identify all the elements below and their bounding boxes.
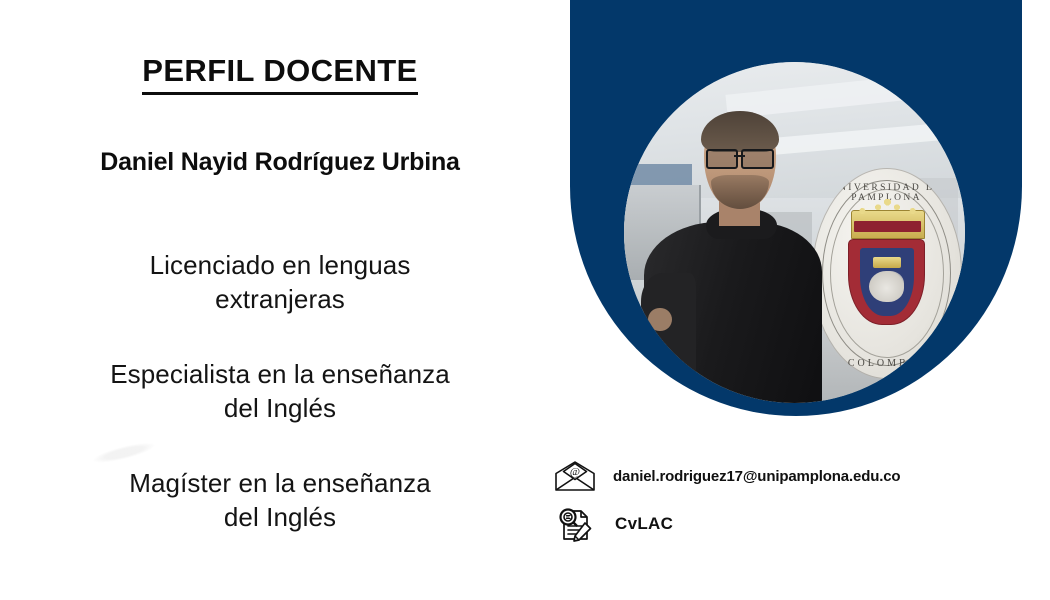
svg-text:@: @ [570,466,580,478]
seal-crown-icon [851,210,925,239]
photo-scene: UNIVERSIDAD DE PAMPLONA COLOMBIA [624,62,965,403]
credential-line: Licenciado en lenguas [0,248,560,282]
profile-slide: PERFIL DOCENTE Daniel Nayid Rodríguez Ur… [0,0,1050,600]
contact-row-email[interactable]: @ daniel.rodriguez17@unipamplona.edu.co [549,452,1019,500]
page-title-text: PERFIL DOCENTE [142,53,417,95]
seal-lion-icon [869,271,904,302]
seal-crown-band [854,221,920,232]
credential-line: del Inglés [0,391,560,425]
seal-shield [849,240,924,325]
person-glasses [706,149,774,165]
glasses-right-lens [741,149,774,169]
email-envelope-icon: @ [549,459,601,493]
teacher-photo: UNIVERSIDAD DE PAMPLONA COLOMBIA [624,62,965,403]
credential-item: Especialista en la enseñanza del Inglés [0,357,560,426]
seal-shield-field [860,248,914,316]
email-address-text[interactable]: daniel.rodriguez17@unipamplona.edu.co [601,468,900,485]
credential-line: Magíster en la enseñanza [0,466,560,500]
university-seal: UNIVERSIDAD DE PAMPLONA COLOMBIA [812,168,962,379]
cvlac-document-search-icon [549,505,601,543]
profile-text-column: PERFIL DOCENTE Daniel Nayid Rodríguez Ur… [0,0,560,600]
teacher-name: Daniel Nayid Rodríguez Urbina [0,148,560,177]
contact-list: @ daniel.rodriguez17@unipamplona.edu.co [549,452,1019,548]
seal-bottom-text: COLOMBIA [812,358,962,369]
seal-shield-crown-icon [873,257,901,268]
person-hand [648,308,672,332]
page-title: PERFIL DOCENTE [0,53,560,89]
person-arm [641,273,696,403]
credential-line: extranjeras [0,282,560,316]
credential-line: Especialista en la enseñanza [0,357,560,391]
glasses-left-lens [706,149,739,169]
credential-item: Licenciado en lenguas extranjeras [0,248,560,317]
credential-item: Magíster en la enseñanza del Inglés [0,466,560,535]
contact-row-cvlac[interactable]: CvLAC [549,500,1019,548]
credential-line: del Inglés [0,500,560,534]
cvlac-link-text[interactable]: CvLAC [601,514,673,534]
photo-background-blue-panel [624,164,692,184]
